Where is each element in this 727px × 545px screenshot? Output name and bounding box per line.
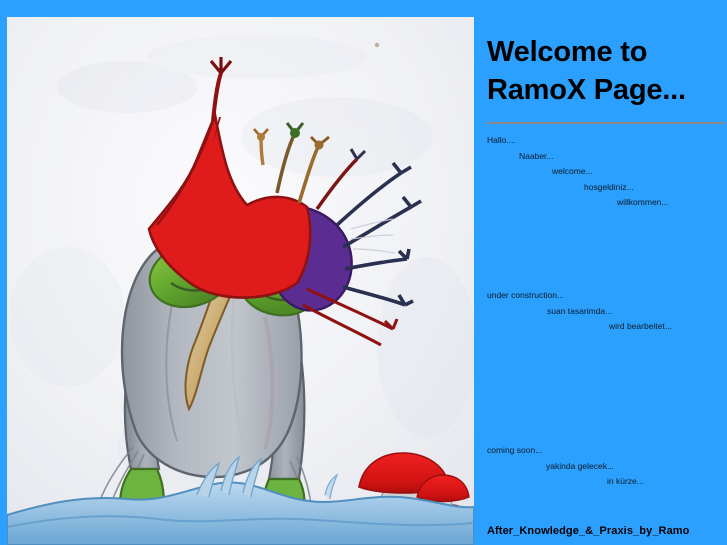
page-title: Welcome to RamoX Page... (487, 33, 725, 109)
content-column: Welcome to RamoX Page... Hallo.... Naabe… (487, 0, 727, 545)
soon-line-yakinda-gelecek: yakinda gelecek... (487, 459, 727, 475)
soon-block: coming soon... yakinda gelecek... in kür… (487, 443, 727, 490)
page-title-line-2: RamoX Page... (487, 71, 725, 109)
artwork-panel (7, 17, 474, 545)
title-divider (487, 122, 725, 124)
status-block: under construction... suan tasarimda... … (487, 288, 727, 335)
paper-speck (375, 43, 379, 47)
soon-line-in-kuerze: in kürze... (487, 474, 727, 490)
greeting-line-welcome: welcome... (487, 164, 727, 180)
greeting-line-naaber: Naaber... (487, 149, 727, 165)
greeting-block: Hallo.... Naaber... welcome... hosgeldin… (487, 133, 727, 211)
status-line-under-construction: under construction... (487, 288, 727, 304)
greeting-line-willkommen: willkommen... (487, 195, 727, 211)
greeting-line-hosgeldiniz: hosgeldiniz... (487, 180, 727, 196)
status-line-suan-tasarimda: suan tasarimda... (487, 304, 727, 320)
greeting-line-hallo: Hallo.... (487, 133, 727, 149)
page-root: Welcome to RamoX Page... Hallo.... Naabe… (0, 0, 727, 545)
footer-credit: After_Knowledge_&_Praxis_by_Ramo (487, 524, 690, 538)
soon-line-coming-soon: coming soon... (487, 443, 727, 459)
status-line-wird-bearbeitet: wird bearbeitet... (487, 319, 727, 335)
crowned-creature-drawing (7, 17, 474, 545)
page-title-line-1: Welcome to (487, 33, 725, 71)
